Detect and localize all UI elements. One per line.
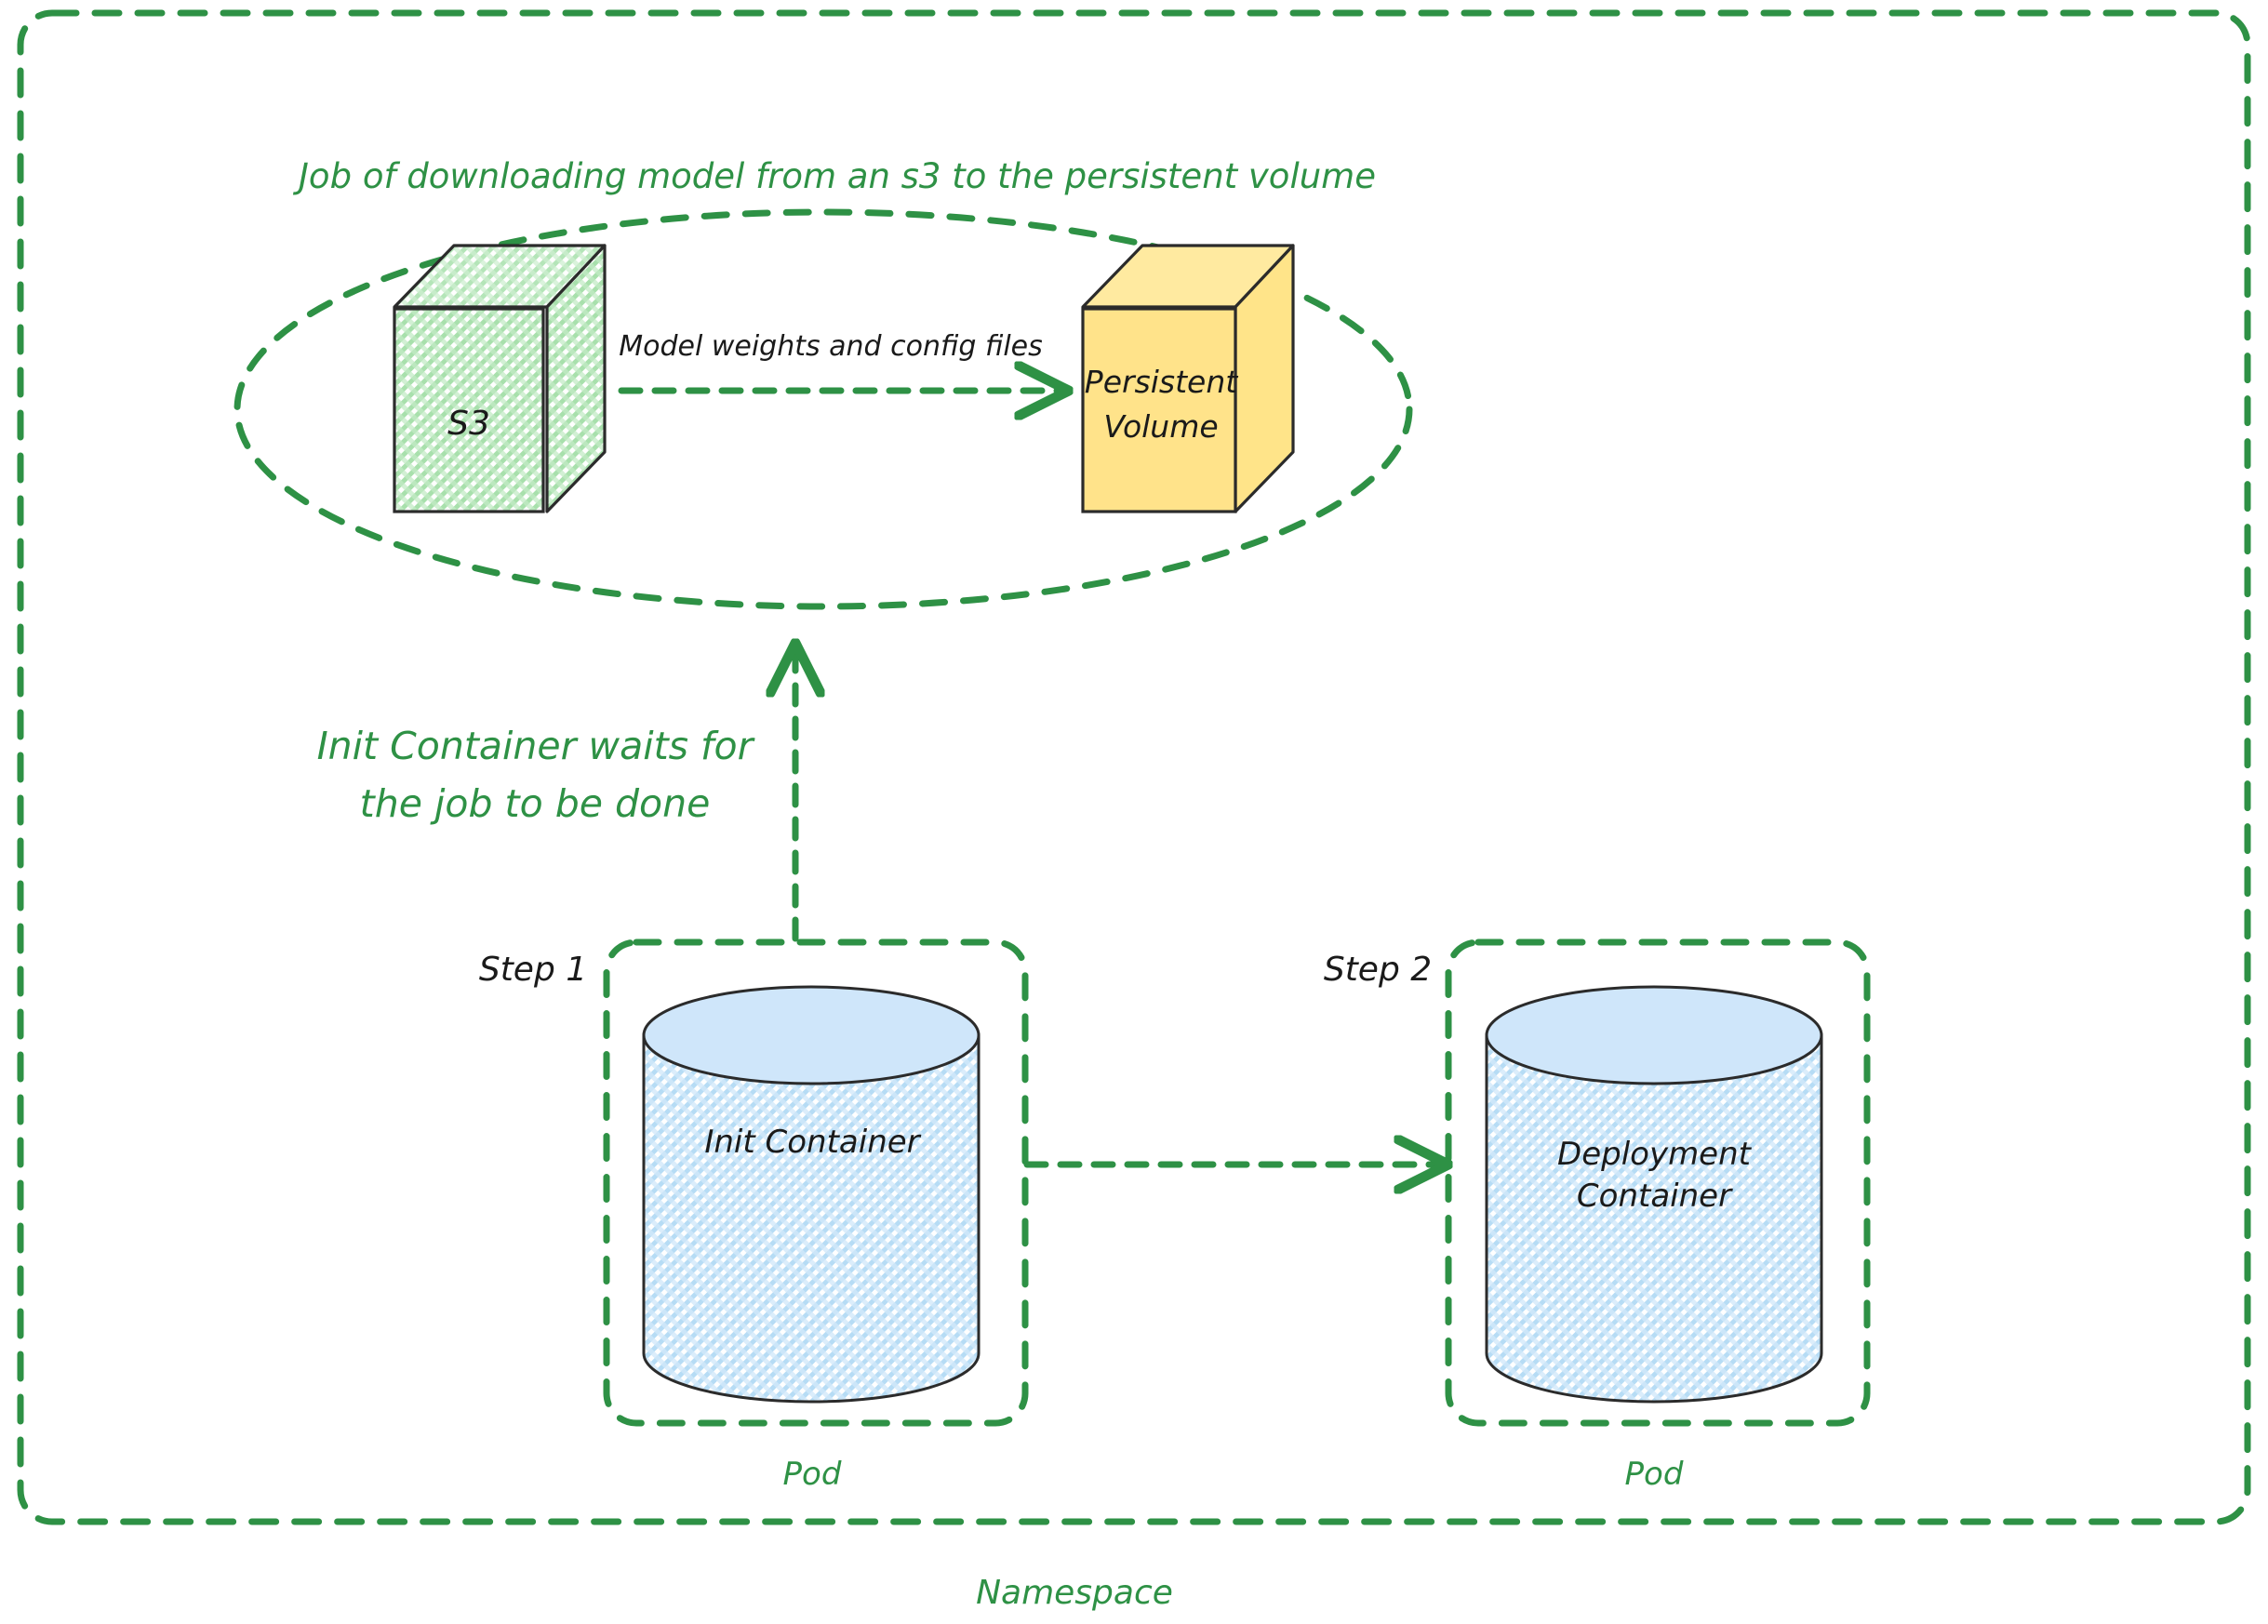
- diagram-vector-layer: [0, 0, 2268, 1624]
- init-container-label: Init Container: [704, 1124, 919, 1161]
- init-container-cylinder: [644, 987, 979, 1402]
- job-title-label: Job of downloading model from an s3 to t…: [299, 156, 1376, 197]
- s3-node-label: S3: [447, 405, 490, 444]
- init-wait-label-line2: the job to be done: [360, 781, 711, 826]
- pod-2-label: Pod: [1625, 1456, 1684, 1493]
- init-wait-label-line1: Init Container waits for: [317, 724, 754, 768]
- pod-2-step-label: Step 2: [1324, 951, 1432, 990]
- namespace-label: Namespace: [976, 1574, 1173, 1613]
- model-transfer-edge-label: Model weights and config files: [619, 330, 1043, 363]
- diagram-canvas: Job of downloading model from an s3 to t…: [0, 0, 2268, 1624]
- deployment-container-label-line1: Deployment: [1557, 1136, 1751, 1173]
- s3-cube: [394, 246, 605, 512]
- persistent-volume-label-line2: Volume: [1103, 409, 1218, 446]
- persistent-volume-label-line1: Persistent: [1085, 365, 1237, 401]
- pod-1-step-label: Step 1: [479, 951, 587, 990]
- deployment-container-label-line2: Container: [1577, 1178, 1731, 1215]
- pod-1-label: Pod: [783, 1456, 842, 1493]
